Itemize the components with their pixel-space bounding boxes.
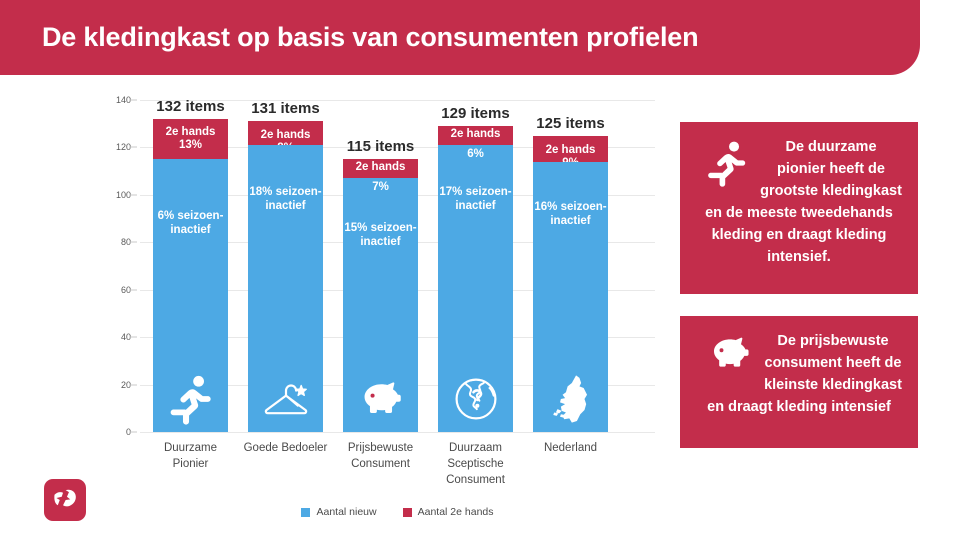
bar-total-label: 125 items: [519, 115, 622, 132]
legend-swatch-icon: [301, 508, 310, 517]
inactive-percent-line: 15% seizoen-: [344, 222, 416, 234]
callout-inner: De duurzame pionier heeft de grootste kl…: [680, 122, 918, 294]
inactive-percent-line: 6% seizoen-: [158, 210, 224, 222]
callout-prijsbewuste-consument: De prijsbewuste consument heeft de klein…: [680, 316, 918, 448]
y-tick-dash-100: [130, 194, 137, 195]
x-label-line-1: Nederland: [544, 442, 597, 454]
bar-segment-new[interactable]: 16% seizoen- inactief: [533, 162, 608, 432]
x-label-line-1: Duurzaam: [449, 442, 502, 454]
y-tick-dash-120: [130, 147, 137, 148]
x-label-line-1: Prijsbewuste: [348, 442, 413, 454]
globe-question-icon: [449, 372, 503, 426]
bar-total-label: 132 items: [139, 98, 242, 115]
secondhand-percent: 7%: [372, 181, 389, 193]
y-axis-tick-80: 80: [91, 237, 131, 247]
running-person-icon: [700, 138, 754, 188]
y-axis-tick-0: 0: [91, 427, 131, 437]
bar-segment-inactive-label: 16% seizoen- inactief: [533, 200, 608, 228]
bar-series: 132 items 2e hands 13% 6% seizoen- inact…: [140, 100, 655, 432]
secondhand-caption: 2e hands: [261, 129, 311, 141]
bar-total-label: 115 items: [329, 138, 432, 155]
chart-legend: Aantal nieuw Aantal 2e hands: [140, 506, 655, 518]
y-axis-tick-40: 40: [91, 332, 131, 342]
bar-segment-secondhand-label: 2e hands 13%: [153, 126, 228, 152]
secondhand-caption: 2e hands: [166, 126, 216, 138]
secondhand-percent: 13%: [179, 139, 202, 151]
bar-total-label: 131 items: [234, 100, 337, 117]
bar-segment-secondhand[interactable]: 2e hands: [438, 126, 513, 145]
bar-group-duurzaam-sceptische-consument[interactable]: 129 items 2e hands 6% 17% seizoen- inact…: [438, 126, 513, 432]
y-tick-dash-140: [130, 100, 137, 101]
x-axis-label-nederland: Nederland: [518, 440, 623, 456]
x-label-line-2: Sceptische: [447, 458, 503, 470]
legend-label: Aantal 2e hands: [418, 506, 494, 518]
y-axis-tick-140: 140: [91, 95, 131, 105]
bar-segment-inactive-label: 18% seizoen- inactief: [248, 185, 323, 213]
secondhand-caption: 2e hands: [451, 128, 501, 140]
inactive-word-line: inactief: [455, 200, 495, 212]
y-axis-tick-100: 100: [91, 190, 131, 200]
y-tick-dash-0: [130, 432, 137, 433]
secondhand-caption: 2e hands: [546, 144, 596, 156]
y-tick-dash-80: [130, 242, 137, 243]
bar-segment-secondhand[interactable]: 2e hands 8%: [248, 121, 323, 145]
bar-segment-inactive-label: 15% seizoen- inactief: [343, 221, 418, 249]
bar-group-prijsbewuste-consument[interactable]: 115 items 2e hands 7% 15% seizoen- inact…: [343, 159, 418, 432]
brand-logo[interactable]: [44, 479, 86, 521]
x-label-line-2: Consument: [351, 458, 410, 470]
bar-segment-secondhand-label: 2e hands 9%: [533, 144, 608, 162]
gridline-0: [140, 432, 655, 433]
bar-group-goede-bedoeler[interactable]: 131 items 2e hands 8% 18% seizoen- inact…: [248, 121, 323, 432]
x-label-line-3: Consument: [446, 474, 505, 486]
secondhand-caption: 2e hands: [356, 161, 406, 173]
x-label-line-2: Pionier: [173, 458, 209, 470]
bar-total-label: 129 items: [424, 105, 527, 122]
x-axis-label-duurzame-pionier: Duurzame Pionier: [138, 440, 243, 472]
plot-area: 140 120 100 80 60 40 20 0 132 items: [140, 100, 655, 432]
secondhand-percent: 6%: [467, 148, 484, 160]
page-title: De kledingkast op basis van consumenten …: [0, 22, 698, 53]
x-label-line-1: Duurzame: [164, 442, 217, 454]
inactive-word-line: inactief: [550, 215, 590, 227]
page-header: De kledingkast op basis van consumenten …: [0, 0, 920, 75]
bar-segment-inactive-label: 6% seizoen- inactief: [153, 209, 228, 237]
inactive-percent-line: 18% seizoen-: [249, 186, 321, 198]
callout-inner: De prijsbewuste consument heeft de klein…: [680, 316, 918, 448]
inactive-word-line: inactief: [170, 224, 210, 236]
y-axis-tick-60: 60: [91, 285, 131, 295]
netherlands-map-icon: [544, 372, 598, 426]
callout-duurzame-pionier: De duurzame pionier heeft de grootste kl…: [680, 122, 918, 294]
legend-item-aantal-2e-hands[interactable]: Aantal 2e hands: [403, 506, 494, 518]
bar-segment-secondhand-label: 2e hands 8%: [248, 129, 323, 145]
y-axis-tick-120: 120: [91, 142, 131, 152]
bar-group-duurzame-pionier[interactable]: 132 items 2e hands 13% 6% seizoen- inact…: [153, 119, 228, 432]
running-person-icon: [164, 372, 218, 426]
infographic-root: De kledingkast op basis van consumenten …: [0, 0, 959, 540]
bar-segment-inactive-label: 17% seizoen- inactief: [438, 185, 513, 213]
inactive-word-line: inactief: [265, 200, 305, 212]
x-axis-label-prijsbewuste-consument: Prijsbewuste Consument: [328, 440, 433, 472]
piggy-bank-icon: [698, 330, 760, 378]
x-label-line-1: Goede Bedoeler: [244, 442, 328, 454]
piggy-bank-icon: [354, 372, 408, 426]
bar-segment-secondhand-label: 2e hands: [343, 161, 418, 174]
bar-segment-secondhand-percent-label: 7%: [343, 180, 418, 194]
clothes-hanger-star-icon: [259, 372, 313, 426]
legend-swatch-icon: [403, 508, 412, 517]
brand-logo-icon: [44, 479, 86, 521]
chart-container: 140 120 100 80 60 40 20 0 132 items: [0, 88, 660, 538]
bar-segment-new[interactable]: 18% seizoen- inactief: [248, 145, 323, 432]
inactive-percent-line: 17% seizoen-: [439, 186, 511, 198]
bar-segment-new[interactable]: 6% 17% seizoen- inactief: [438, 145, 513, 432]
y-tick-dash-40: [130, 337, 137, 338]
bar-segment-secondhand[interactable]: 2e hands: [343, 159, 418, 178]
bar-segment-secondhand-percent-label: 6%: [438, 147, 513, 161]
bar-segment-secondhand[interactable]: 2e hands 9%: [533, 136, 608, 162]
y-axis-tick-20: 20: [91, 380, 131, 390]
bar-group-nederland[interactable]: 125 items 2e hands 9% 16% seizoen- inact…: [533, 136, 608, 432]
y-tick-dash-20: [130, 384, 137, 385]
x-axis-label-goede-bedoeler: Goede Bedoeler: [233, 440, 338, 456]
inactive-word-line: inactief: [360, 236, 400, 248]
bar-segment-new[interactable]: 7% 15% seizoen- inactief: [343, 178, 418, 432]
inactive-percent-line: 16% seizoen-: [534, 201, 606, 213]
bar-segment-new[interactable]: 6% seizoen- inactief: [153, 159, 228, 432]
bar-segment-secondhand[interactable]: 2e hands 13%: [153, 119, 228, 159]
legend-label: Aantal nieuw: [316, 506, 376, 518]
legend-item-aantal-nieuw[interactable]: Aantal nieuw: [301, 506, 376, 518]
y-tick-dash-60: [130, 289, 137, 290]
bar-segment-secondhand-label: 2e hands: [438, 128, 513, 141]
x-axis-label-duurzaam-sceptische-consument: Duurzaam Sceptische Consument: [423, 440, 528, 488]
